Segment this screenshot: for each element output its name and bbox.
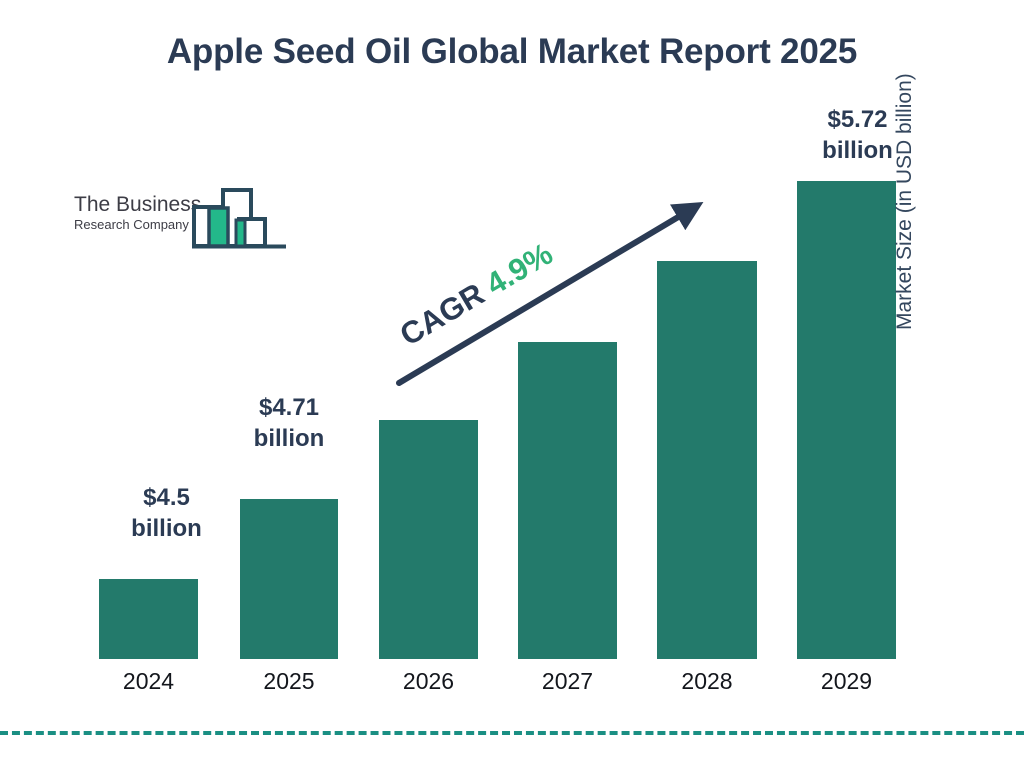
bar-2026 [379,420,478,659]
x-tick-label-2024: 2024 [87,668,210,695]
x-tick-label-2029: 2029 [785,668,908,695]
x-tick-label-2028: 2028 [645,668,769,695]
bar-value-label-2024: $4.5billion [99,483,234,544]
bar-value-amount-2024: $4.5 [99,483,234,514]
bar-2025 [240,499,338,659]
bottom-divider [0,731,1024,735]
y-axis-title: Market Size (in USD billion) [893,0,917,330]
bar-2029 [797,181,896,659]
bar-value-amount-2025: $4.71 [222,393,356,424]
bar-2024 [99,579,198,659]
bar-value-unit-2025: billion [222,424,356,455]
bar-value-unit-2024: billion [99,514,234,545]
bar-value-label-2025: $4.71billion [222,393,356,454]
x-tick-label-2025: 2025 [228,668,350,695]
growth-arrow [385,190,715,395]
x-tick-label-2027: 2027 [506,668,629,695]
x-tick-label-2026: 2026 [367,668,490,695]
